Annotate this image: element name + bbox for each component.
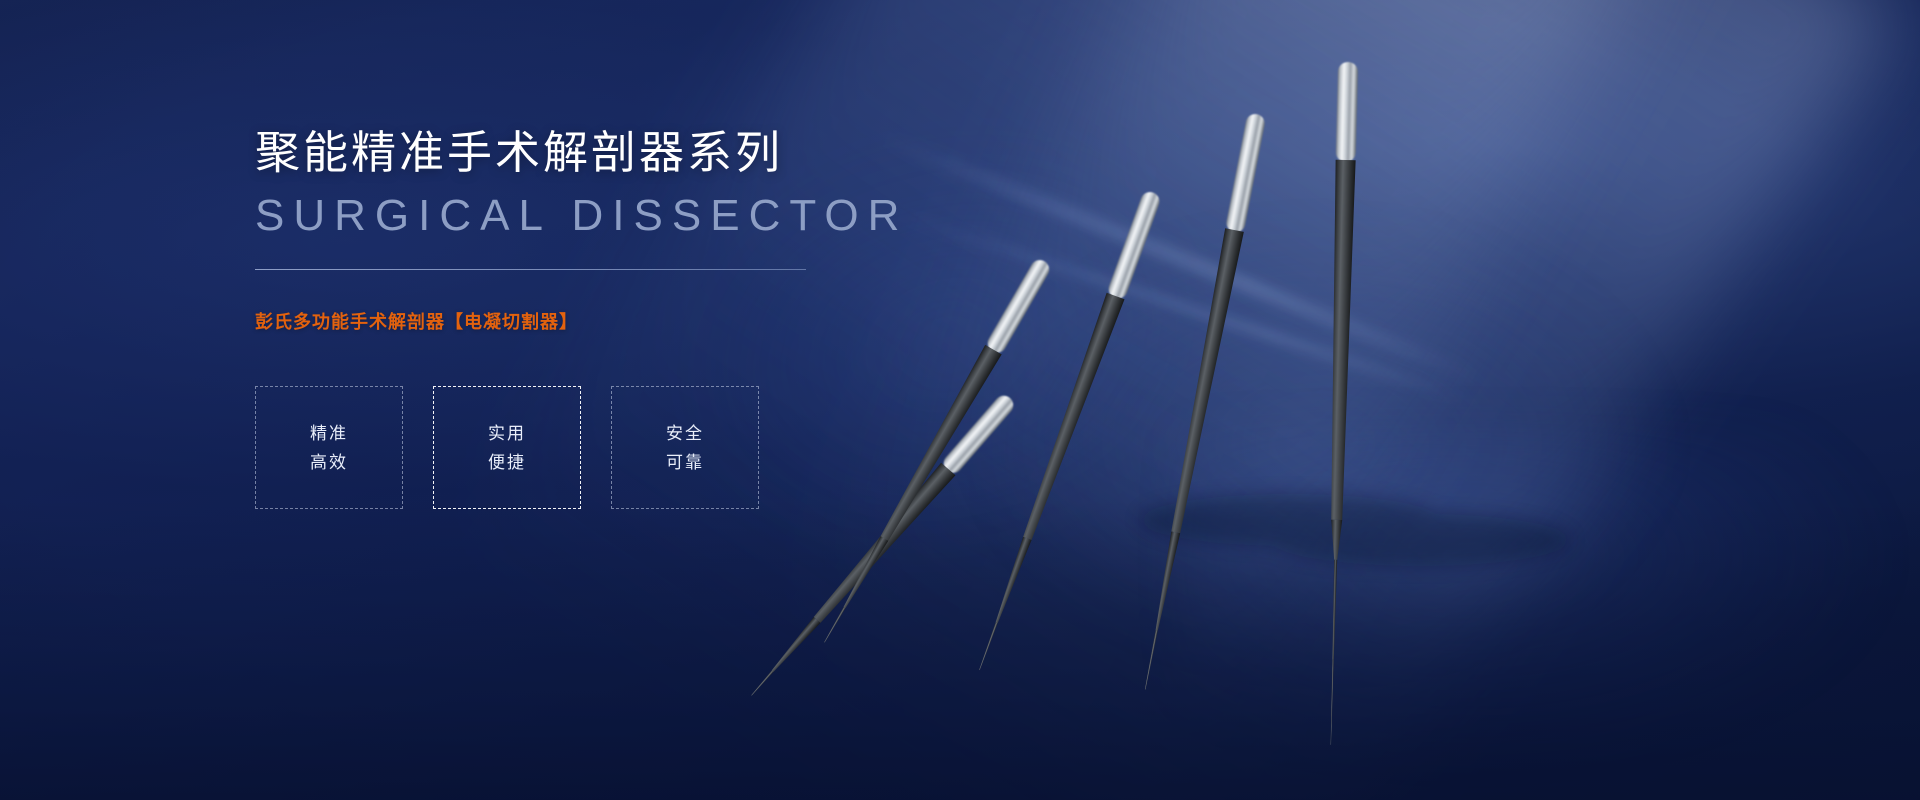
product-name-label: 彭氏多功能手术解剖器【电凝切割器】 [255, 308, 1075, 334]
feature-badge-line-1: 安全 [666, 425, 704, 442]
feature-badge-line-2: 便捷 [488, 454, 526, 471]
product-banner: 聚能精准手术解剖器系列 SURGICAL DISSECTOR 彭氏多功能手术解剖… [0, 0, 1920, 800]
feature-badge-line-2: 高效 [310, 454, 348, 471]
background-ghost-hand [980, 210, 1740, 730]
background-bottom-shade [0, 500, 1920, 800]
feature-badge-line-2: 可靠 [666, 454, 704, 471]
feature-badge-line-1: 实用 [488, 425, 526, 442]
instrument-5 [1320, 62, 1358, 745]
background-ghost-glove [1180, 430, 1920, 800]
title-divider [255, 269, 806, 270]
feature-badge-safety[interactable]: 安全 可靠 [611, 386, 759, 509]
feature-badges: 精准 高效 实用 便捷 安全 可靠 [255, 386, 1075, 509]
instrument-4 [1136, 112, 1266, 691]
page-title: 聚能精准手术解剖器系列 [255, 126, 1075, 180]
page-subtitle-english: SURGICAL DISSECTOR [255, 188, 1075, 243]
feature-badge-precision[interactable]: 精准 高效 [255, 386, 403, 509]
feature-badge-practical[interactable]: 实用 便捷 [433, 386, 581, 509]
feature-badge-line-1: 精准 [310, 425, 348, 442]
banner-text-block: 聚能精准手术解剖器系列 SURGICAL DISSECTOR 彭氏多功能手术解剖… [255, 126, 1075, 509]
